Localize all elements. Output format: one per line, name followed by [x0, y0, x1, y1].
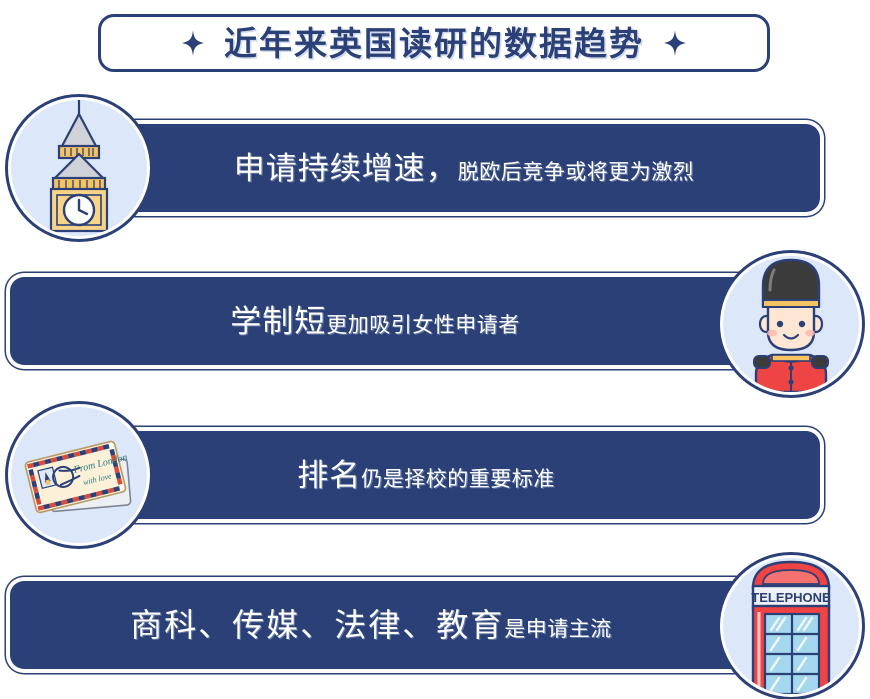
infographic-page: 近年来英国读研的数据趋势 申请持续增速， 脱欧后竞争或将更为激烈 — [0, 0, 870, 699]
trend-text-2: 学制短 更加吸引女性申请者 — [230, 306, 520, 337]
trend-row-1: 申请持续增速， 脱欧后竞争或将更为激烈 — [0, 95, 870, 240]
trend-detail-3: 仍是择校的重要标准 — [361, 469, 555, 490]
trend-bar-1: 申请持续增速， 脱欧后竞争或将更为激烈 — [52, 124, 820, 212]
telephone-booth-icon: TELEPHONE — [737, 555, 845, 694]
icon-medallion-3: From London with love — [8, 404, 150, 546]
sparkle-icon-right — [664, 30, 686, 56]
trend-detail-1: 脱欧后竞争或将更为激烈 — [458, 162, 695, 183]
trend-bar-3: 排名 仍是择校的重要标准 — [52, 431, 820, 519]
trend-headline-4: 商科、传媒、法律、教育 — [130, 609, 504, 641]
page-title: 近年来英国读研的数据趋势 — [224, 27, 644, 60]
icon-medallion-2 — [720, 253, 862, 395]
trend-headline-3: 排名 — [297, 460, 361, 491]
trend-bar-4: 商科、传媒、法律、教育 是申请主流 — [10, 581, 776, 669]
royal-guard-icon — [732, 256, 850, 392]
trend-detail-2: 更加吸引女性申请者 — [326, 315, 520, 336]
trend-headline-1: 申请持续增速， — [234, 153, 458, 184]
big-ben-icon — [29, 97, 129, 236]
trend-text-1: 申请持续增速， 脱欧后竞争或将更为激烈 — [234, 153, 695, 184]
telephone-sign-text: TELEPHONE — [751, 590, 831, 605]
trend-text-4: 商科、传媒、法律、教育 是申请主流 — [130, 609, 612, 641]
trend-row-2: 学制短 更加吸引女性申请者 — [0, 248, 870, 393]
page-title-banner: 近年来英国读研的数据趋势 — [98, 14, 770, 72]
trend-bar-2: 学制短 更加吸引女性申请者 — [10, 277, 776, 365]
trend-text-3: 排名 仍是择校的重要标准 — [297, 460, 555, 491]
icon-medallion-4: TELEPHONE — [720, 555, 862, 697]
icon-medallion-1 — [8, 97, 150, 239]
trend-detail-4: 是申请主流 — [504, 619, 612, 640]
airmail-envelope-icon: From London with love — [19, 427, 139, 523]
trend-headline-2: 学制短 — [230, 306, 326, 337]
trend-row-3: 排名 仍是择校的重要标准 — [0, 402, 870, 547]
sparkle-icon-left — [182, 30, 204, 56]
trend-row-4: 商科、传媒、法律、教育 是申请主流 TELEPHONE — [0, 552, 870, 699]
